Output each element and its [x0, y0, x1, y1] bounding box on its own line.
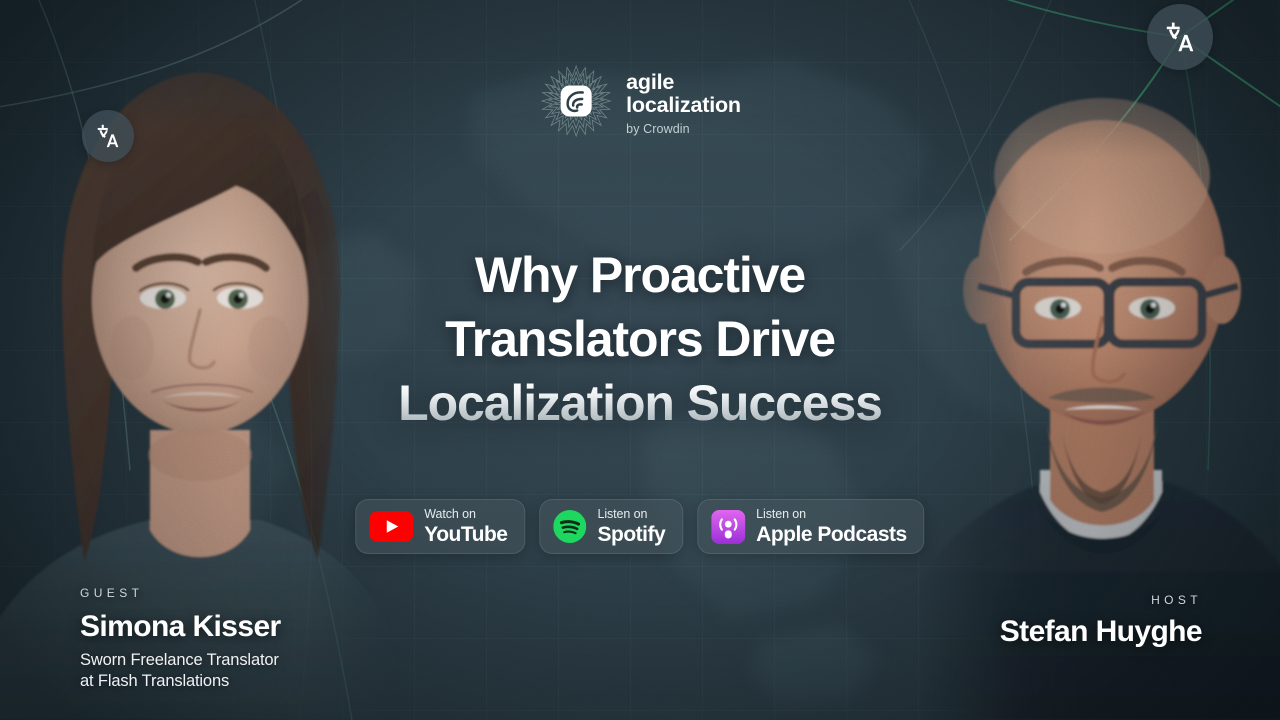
- brand-logo-text: agile localization by Crowdin: [626, 62, 741, 136]
- episode-title: Why Proactive Translators Drive Localiza…: [340, 243, 940, 435]
- spotify-label: Spotify: [598, 524, 666, 545]
- guest-title-line1: Sworn Freelance Translator: [80, 650, 281, 671]
- translate-node-right: [1147, 4, 1213, 70]
- brand-title-line1: agile: [626, 71, 741, 94]
- brand-title-line2: localization: [626, 94, 741, 117]
- translate-node-left: [82, 110, 134, 162]
- spotify-icon: [554, 510, 587, 543]
- episode-title-line2: Translators Drive: [340, 307, 940, 371]
- host-name: Stefan Huyghe: [1000, 616, 1202, 648]
- guest-credit: GUEST Simona Kisser Sworn Freelance Tran…: [80, 586, 281, 692]
- spotify-pre-label: Listen on: [598, 508, 666, 521]
- translate-icon: [94, 122, 122, 150]
- apple-podcasts-pre-label: Listen on: [756, 508, 907, 521]
- youtube-link-button[interactable]: Watch on YouTube: [355, 499, 525, 554]
- host-credit: HOST Stefan Huyghe: [1000, 593, 1202, 648]
- youtube-icon: [369, 511, 413, 542]
- crowdin-starburst-logo-icon: [539, 64, 613, 138]
- host-role-label: HOST: [1000, 593, 1202, 607]
- guest-title: Sworn Freelance Translator at Flash Tran…: [80, 650, 281, 692]
- translate-icon: [1162, 19, 1198, 55]
- podcast-thumbnail: agile localization by Crowdin Why Proact…: [0, 0, 1280, 720]
- platform-links: Watch on YouTube Listen on Spotify: [355, 499, 924, 554]
- apple-podcasts-label: Apple Podcasts: [756, 524, 907, 545]
- apple-podcasts-link-button[interactable]: Listen on Apple Podcasts: [697, 499, 925, 554]
- youtube-pre-label: Watch on: [424, 508, 507, 521]
- guest-title-line2: at Flash Translations: [80, 671, 281, 692]
- spotify-link-button[interactable]: Listen on Spotify: [540, 499, 684, 554]
- apple-podcasts-icon: [711, 510, 745, 544]
- guest-name: Simona Kisser: [80, 611, 281, 643]
- guest-role-label: GUEST: [80, 586, 281, 600]
- brand-subtitle: by Crowdin: [626, 122, 741, 136]
- episode-title-line3: Localization Success: [340, 371, 940, 435]
- brand-logo: agile localization by Crowdin: [539, 62, 741, 138]
- episode-title-line1: Why Proactive: [340, 243, 940, 307]
- youtube-label: YouTube: [424, 524, 507, 545]
